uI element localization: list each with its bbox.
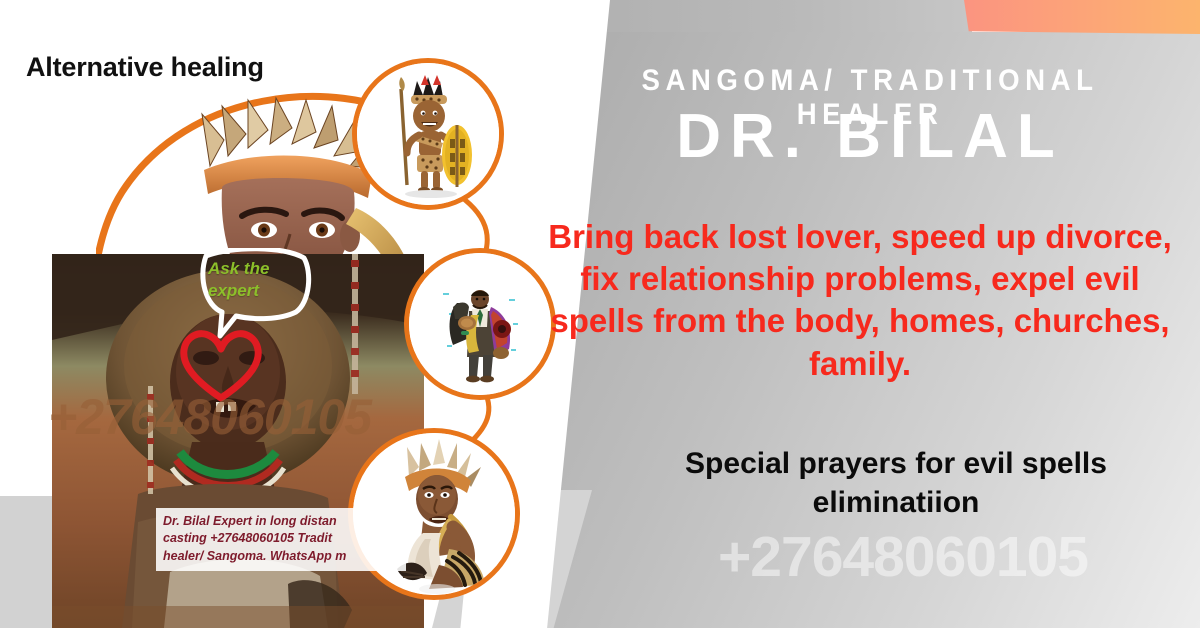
speech-bubble-text: Ask the expert	[208, 258, 308, 302]
caption-line-3: healer/ Sangoma. WhatsApp m	[163, 548, 399, 565]
special-prayers-text: Special prayers for evil spells eliminat…	[606, 444, 1186, 522]
photo-caption-box: Dr. Bilal Expert in long distan casting …	[156, 508, 406, 571]
circle-zulu-warrior-cartoon[interactable]	[352, 58, 504, 210]
caption-line-1: Dr. Bilal Expert in long distan	[163, 513, 399, 530]
photo-watermark-phone-number: +27648060105	[48, 388, 371, 446]
alternative-healing-heading: Alternative healing	[26, 52, 264, 83]
caption-line-2: casting +27648060105 Tradit	[163, 530, 399, 547]
zulu-warrior-cartoon-icon	[357, 63, 499, 205]
poster-canvas: Alternative healing	[0, 0, 1200, 628]
robed-healer-icon	[409, 253, 551, 395]
top-orange-strip	[964, 0, 1200, 34]
services-red-text: Bring back lost lover, speed up divorce,…	[536, 216, 1184, 385]
bottom-left-gray-band	[0, 496, 56, 628]
right-watermark-phone-number: +27648060105	[606, 524, 1200, 590]
circle-robed-healer-illustration[interactable]	[404, 248, 556, 400]
page-title: DR. BILAL	[560, 104, 1180, 169]
